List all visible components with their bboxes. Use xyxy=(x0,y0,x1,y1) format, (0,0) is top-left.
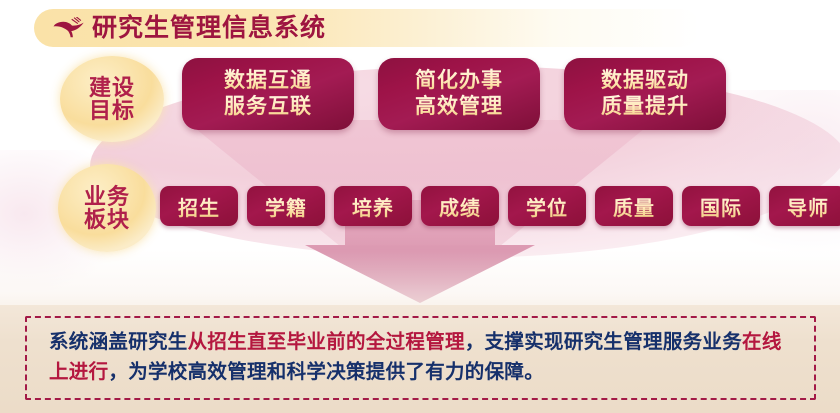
module-chip-list: 招生 学籍 培养 成绩 学位 质量 国际 导师 系统 xyxy=(160,186,840,226)
infographic-canvas: 研究生管理信息系统 建设 目标 数据互通 服务互联 简化办事 高效管理 数据驱动… xyxy=(0,0,840,413)
goal-card-line2: 质量提升 xyxy=(601,94,689,120)
row-label-goal-line1: 建设 xyxy=(89,76,135,99)
module-chip[interactable]: 质量 xyxy=(595,186,673,226)
down-arrow-head-icon xyxy=(305,245,535,303)
module-chip[interactable]: 培养 xyxy=(334,186,412,226)
module-chip-label: 培养 xyxy=(352,192,394,221)
row-label-goal-text: 建设 目标 xyxy=(89,76,135,122)
module-chip-label: 导师 xyxy=(787,192,829,221)
row-label-module-line1: 业务 xyxy=(84,185,130,208)
module-chip[interactable]: 学籍 xyxy=(247,186,325,226)
module-chip-label: 成绩 xyxy=(439,192,481,221)
module-chip-label: 学籍 xyxy=(265,192,307,221)
goal-card-line2: 服务互联 xyxy=(224,94,312,120)
goal-card-line1: 简化办事 xyxy=(415,68,503,94)
module-chip[interactable]: 导师 xyxy=(769,186,840,226)
summary-segment: ，为学校高效管理和科学决策提供了有力的保障。 xyxy=(108,361,544,383)
goal-card[interactable]: 数据驱动 质量提升 xyxy=(564,58,726,130)
goal-card[interactable]: 数据互通 服务互联 xyxy=(182,58,354,130)
module-chip-label: 质量 xyxy=(613,192,655,221)
module-chip-label: 学位 xyxy=(526,192,568,221)
summary-segment: ，支撑实现研究生管理服务业务 xyxy=(465,331,742,353)
row-label-goal-line2: 目标 xyxy=(89,99,135,122)
module-chip-label: 招生 xyxy=(178,192,220,221)
goal-card-line2: 高效管理 xyxy=(415,94,503,120)
goal-card[interactable]: 简化办事 高效管理 xyxy=(378,58,540,130)
goal-card-line1: 数据驱动 xyxy=(601,68,689,94)
module-chip[interactable]: 招生 xyxy=(160,186,238,226)
row-label-module: 业务 板块 xyxy=(58,164,156,252)
row-label-module-line2: 板块 xyxy=(84,208,130,231)
dove-icon xyxy=(52,17,86,39)
row-label-goal: 建设 目标 xyxy=(60,56,164,142)
summary-segment: 系统涵盖研究生 xyxy=(49,331,188,353)
goal-card-line1: 数据互通 xyxy=(224,68,312,94)
header-banner: 研究生管理信息系统 xyxy=(34,9,700,47)
summary-segment: 从招生直至毕业前的全过程管理 xyxy=(188,331,465,353)
module-chip-label: 国际 xyxy=(700,192,742,221)
summary-text: 系统涵盖研究生从招生直至毕业前的全过程管理，支撑实现研究生管理服务业务在线上进行… xyxy=(27,328,814,387)
module-chip[interactable]: 学位 xyxy=(508,186,586,226)
summary-box: 系统涵盖研究生从招生直至毕业前的全过程管理，支撑实现研究生管理服务业务在线上进行… xyxy=(25,316,816,400)
row-label-module-text: 业务 板块 xyxy=(84,185,130,231)
module-chip[interactable]: 成绩 xyxy=(421,186,499,226)
module-chip[interactable]: 国际 xyxy=(682,186,760,226)
page-title: 研究生管理信息系统 xyxy=(92,16,326,41)
